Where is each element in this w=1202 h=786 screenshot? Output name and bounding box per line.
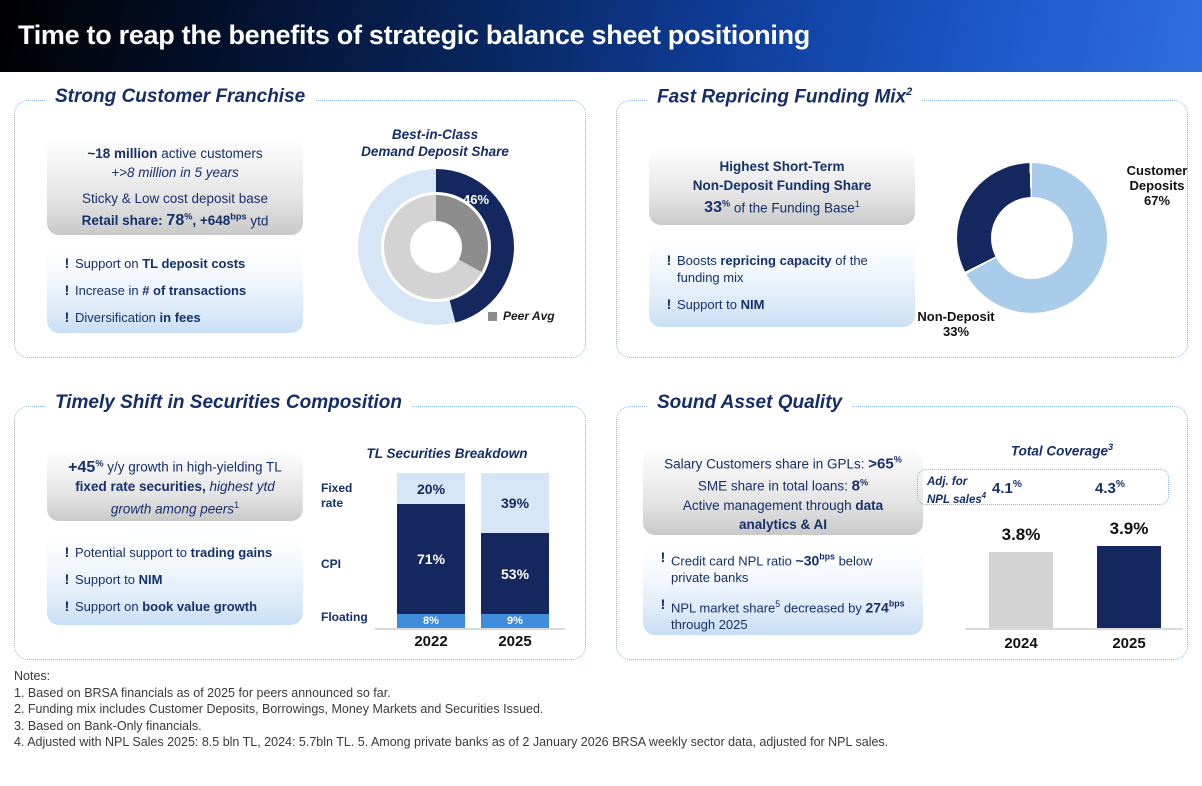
callout-line-2: fixed rate securities, highest ytd (47, 477, 303, 496)
coverage-title-text: Total Coverage (1011, 444, 1108, 459)
callout-line-1: Salary Customers share in GPLs: >65% (643, 451, 923, 474)
coverage-bar-2025 (1097, 546, 1161, 628)
bullet-bold: book value growth (142, 599, 257, 614)
panel-title-q3: Timely Shift in Securities Composition (45, 392, 412, 414)
bullet-item: !Potential support to trading gains (59, 544, 289, 561)
bar-2022-floating: 8% (397, 614, 465, 628)
callout-rest-1: active customers (158, 146, 263, 161)
callout-funding-share: Highest Short-Term Non-Deposit Funding S… (649, 149, 915, 225)
bullet-text: NPL market share (671, 600, 775, 615)
callout-line-3: 33% of the Funding Base1 (649, 195, 915, 218)
callout-securities-growth: +45% y/y growth in high-yielding TL fixe… (47, 451, 303, 521)
salary-value: >65 (868, 455, 893, 472)
year-label-2022: 2022 (397, 633, 465, 650)
label-non-deposit: Non-Deposit 33% (901, 309, 1011, 339)
bullet-sup: bps (819, 552, 835, 562)
adj-label-line2: NPL sales4 (927, 489, 986, 507)
cat-label-floating: Floating (321, 610, 368, 625)
funding-share-rest: of the Funding Base (730, 200, 855, 215)
exclamation-icon: ! (59, 309, 75, 326)
bullet-bold: NIM (741, 297, 765, 312)
exclamation-icon: ! (655, 549, 671, 566)
callout-line-1: Highest Short-Term (649, 157, 915, 176)
exclamation-icon: ! (59, 598, 75, 615)
bullet-item: !Increase in # of transactions (59, 282, 289, 299)
adj-value-2025: 4.3% (1095, 479, 1125, 497)
active-mgmt-bold: data (855, 498, 883, 513)
adj-footnote: 4 (982, 491, 986, 500)
cat-fixed-line1: Fixed (321, 481, 352, 496)
sme-value: 8 (852, 478, 860, 495)
funding-share-footnote: 1 (855, 199, 860, 209)
growth-value: +45 (68, 459, 95, 476)
panel-title-q2-text: Fast Repricing Funding Mix (657, 86, 906, 107)
exclamation-icon: ! (59, 282, 75, 299)
bar-2025-fixed: 39% (481, 473, 549, 533)
panel-title-q2: Fast Repricing Funding Mix2 (647, 86, 922, 108)
note-4: 4. Adjusted with NPL Sales 2025: 8.5 bln… (14, 734, 1194, 751)
callout-line-3: Sticky & Low cost deposit base (47, 189, 303, 208)
exclamation-icon: ! (655, 596, 671, 613)
adj-label: Adj. for NPL sales4 (927, 475, 986, 507)
bullet-item: !Boosts repricing capacity of the fundin… (661, 252, 901, 286)
bullet-item: !Support to NIM (661, 296, 901, 313)
callout-line-2: SME share in total loans: 8% (643, 473, 923, 496)
exclamation-icon: ! (59, 571, 75, 588)
note-3: 3. Based on Bank-Only financials. (14, 718, 1194, 735)
bullet-text: Potential support to (75, 545, 191, 560)
retail-share-label: Retail share: (82, 213, 167, 228)
callout-bold-1: Highest Short-Term (719, 159, 844, 174)
retail-share-bps: bps (230, 212, 246, 222)
salary-pct: % (894, 455, 902, 465)
chart-title-demand-deposit: Best-in-Class Demand Deposit Share (315, 126, 555, 160)
bar-2025-cpi: 53% (481, 533, 549, 614)
donut-label-46: 46% (463, 192, 489, 207)
sme-label: SME share in total loans: (698, 479, 852, 494)
active-mgmt-bold2: analytics & AI (739, 517, 827, 532)
bullet-item: !Credit card NPL ratio ~30bps below priv… (655, 549, 909, 586)
coverage-chart-axis (965, 628, 1183, 630)
label-cd-value: 67% (1111, 193, 1202, 208)
bar-2022-cpi: 71% (397, 504, 465, 614)
bullet-text: Support on (75, 599, 142, 614)
active-mgmt-label: Active management through (683, 498, 856, 513)
bullet-bold: in fees (160, 310, 201, 325)
bullet-text: Support to (75, 572, 139, 587)
legend-label: Peer Avg (503, 309, 555, 323)
note-1: 1. Based on BRSA financials as of 2025 f… (14, 685, 1194, 702)
exclamation-icon: ! (661, 252, 677, 269)
bullet-bold: ~30 (796, 552, 820, 568)
callout-ital-3: growth among peers (111, 501, 234, 516)
bullet-mid: decreased by (780, 600, 865, 615)
label-customer-deposits: Customer Deposits 67% (1111, 163, 1202, 208)
bullets-funding-mix: !Boosts repricing capacity of the fundin… (649, 237, 915, 327)
retail-share-delta: , +648 (192, 213, 230, 228)
adj-value-2024: 4.1% (992, 479, 1022, 497)
chart-title-total-coverage: Total Coverage3 (947, 439, 1177, 460)
notes-heading: Notes: (14, 668, 1194, 685)
callout-strong-18m: ~18 million (87, 146, 157, 161)
bullet-bold: TL deposit costs (142, 256, 245, 271)
bullet-bold: NIM (139, 572, 163, 587)
panel-fast-repricing-funding-mix: Fast Repricing Funding Mix2 Highest Shor… (616, 100, 1188, 358)
coverage-bar-2024 (989, 552, 1053, 628)
bullets-securities: !Potential support to trading gains !Sup… (47, 533, 303, 625)
panel-title-q1: Strong Customer Franchise (45, 86, 315, 108)
note-2: 2. Funding mix includes Customer Deposit… (14, 701, 1194, 718)
callout-customer-stats: ~18 million active customers +>8 million… (47, 139, 303, 235)
chart-title-tl-securities: TL Securities Breakdown (327, 445, 567, 462)
bullet-bold: 274 (865, 599, 888, 615)
bullets-customer-franchise: !Support on TL deposit costs !Increase i… (47, 247, 303, 333)
retail-share-value: 78 (166, 212, 184, 229)
callout-ital-2: highest ytd (206, 479, 275, 494)
bar-chart-axis (375, 628, 565, 630)
salary-label: Salary Customers share in GPLs: (664, 456, 868, 471)
bullet-item: !Support on book value growth (59, 598, 289, 615)
bullet-item: !Diversification in fees (59, 309, 289, 326)
callout-line-4: analytics & AI (643, 515, 923, 534)
bullet-text: Increase in (75, 283, 142, 298)
bullet-bold: # of transactions (142, 283, 246, 298)
growth-rest: y/y growth in high-yielding TL (103, 460, 281, 475)
cat-fixed-line2: rate (321, 496, 352, 511)
legend-peer-avg: Peer Avg (488, 309, 555, 323)
funding-share-value: 33 (704, 199, 722, 216)
bullets-asset-quality: !Credit card NPL ratio ~30bps below priv… (643, 547, 923, 635)
bullet-item: !Support on TL deposit costs (59, 255, 289, 272)
bullet-bold: trading gains (191, 545, 273, 560)
exclamation-icon: ! (59, 255, 75, 272)
page-title: Time to reap the benefits of strategic b… (18, 20, 810, 51)
coverage-value-2024: 3.8% (985, 525, 1057, 545)
bullet-tail: through 2025 (671, 617, 748, 632)
coverage-year-2025: 2025 (1097, 635, 1161, 652)
legend-swatch-icon (488, 312, 497, 321)
chart-title-line-1: Best-in-Class (315, 126, 555, 143)
callout-line-1: ~18 million active customers (47, 144, 303, 163)
year-label-2025: 2025 (481, 633, 549, 650)
coverage-year-2024: 2024 (989, 635, 1053, 652)
coverage-value-2025: 3.9% (1093, 519, 1165, 539)
chart-title-line-2: Demand Deposit Share (315, 143, 555, 160)
cat-label-fixed-rate: Fixed rate (321, 481, 352, 511)
adj-label-line1: Adj. for (927, 475, 986, 489)
callout-line-2: Non-Deposit Funding Share (649, 176, 915, 195)
sme-pct: % (860, 477, 868, 487)
bullet-sup: bps (889, 599, 905, 609)
page-header: Time to reap the benefits of strategic b… (0, 0, 1202, 72)
bullet-text: Diversification (75, 310, 160, 325)
callout-asset-quality: Salary Customers share in GPLs: >65% SME… (643, 449, 923, 535)
bullet-text: Support to (677, 297, 741, 312)
panel-timely-shift-securities: Timely Shift in Securities Composition +… (14, 406, 586, 660)
notes-section: Notes: 1. Based on BRSA financials as of… (14, 668, 1194, 751)
callout-footnote-3: 1 (234, 500, 239, 510)
callout-bold-2: Non-Deposit Funding Share (693, 178, 872, 193)
bar-2025-floating: 9% (481, 614, 549, 628)
callout-line-1: +45% y/y growth in high-yielding TL (47, 454, 303, 477)
donut-funding-hole (991, 197, 1073, 279)
bullet-bold: repricing capacity (720, 253, 831, 268)
callout-bold-2: fixed rate securities, (75, 479, 206, 494)
bullet-text: Credit card NPL ratio (671, 553, 796, 568)
retail-share-ytd: ytd (247, 213, 269, 228)
cat-label-cpi: CPI (321, 557, 341, 572)
callout-line-3: growth among peers1 (47, 496, 303, 519)
bar-2022-fixed: 20% (397, 473, 465, 504)
panel-title-q4: Sound Asset Quality (647, 392, 852, 414)
panel-sound-asset-quality: Sound Asset Quality Salary Customers sha… (616, 406, 1188, 660)
donut-inner-hole (410, 221, 462, 273)
panel-title-q2-sup: 2 (906, 86, 912, 98)
label-cd-line2: Deposits (1111, 178, 1202, 193)
exclamation-icon: ! (661, 296, 677, 313)
panel-strong-customer-franchise: Strong Customer Franchise ~18 million ac… (14, 100, 586, 358)
exclamation-icon: ! (59, 544, 75, 561)
callout-line-3: Active management through data (643, 496, 923, 515)
bullet-item: !NPL market share5 decreased by 274bps t… (655, 596, 909, 633)
coverage-title-sup: 3 (1108, 442, 1113, 452)
bullet-text: Support on (75, 256, 142, 271)
funding-share-pct: % (722, 199, 730, 209)
callout-line-4: Retail share: 78%, +648bps ytd (47, 208, 303, 231)
label-cd-line1: Customer (1111, 163, 1202, 178)
callout-line-2: +>8 million in 5 years (47, 163, 303, 182)
bullet-item: !Support to NIM (59, 571, 289, 588)
label-nd-value: 33% (901, 324, 1011, 339)
label-nd-line1: Non-Deposit (901, 309, 1011, 324)
bullet-text: Boosts (677, 253, 720, 268)
